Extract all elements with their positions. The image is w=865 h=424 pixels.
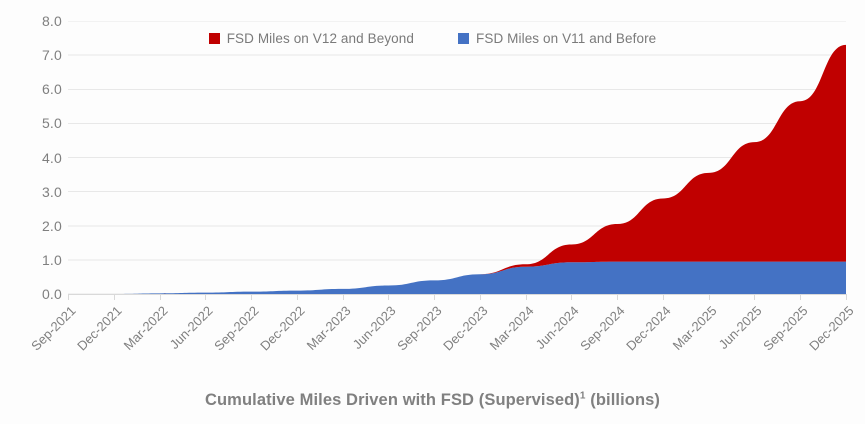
title-footnote-marker: 1 [580, 391, 586, 402]
x-axis-labels: Sep-2021Dec-2021Mar-2022Jun-2022Sep-2022… [0, 0, 865, 424]
chart-title: Cumulative Miles Driven with FSD (Superv… [0, 391, 865, 410]
chart-page: FSD Miles on V12 and Beyond FSD Miles on… [0, 0, 865, 424]
